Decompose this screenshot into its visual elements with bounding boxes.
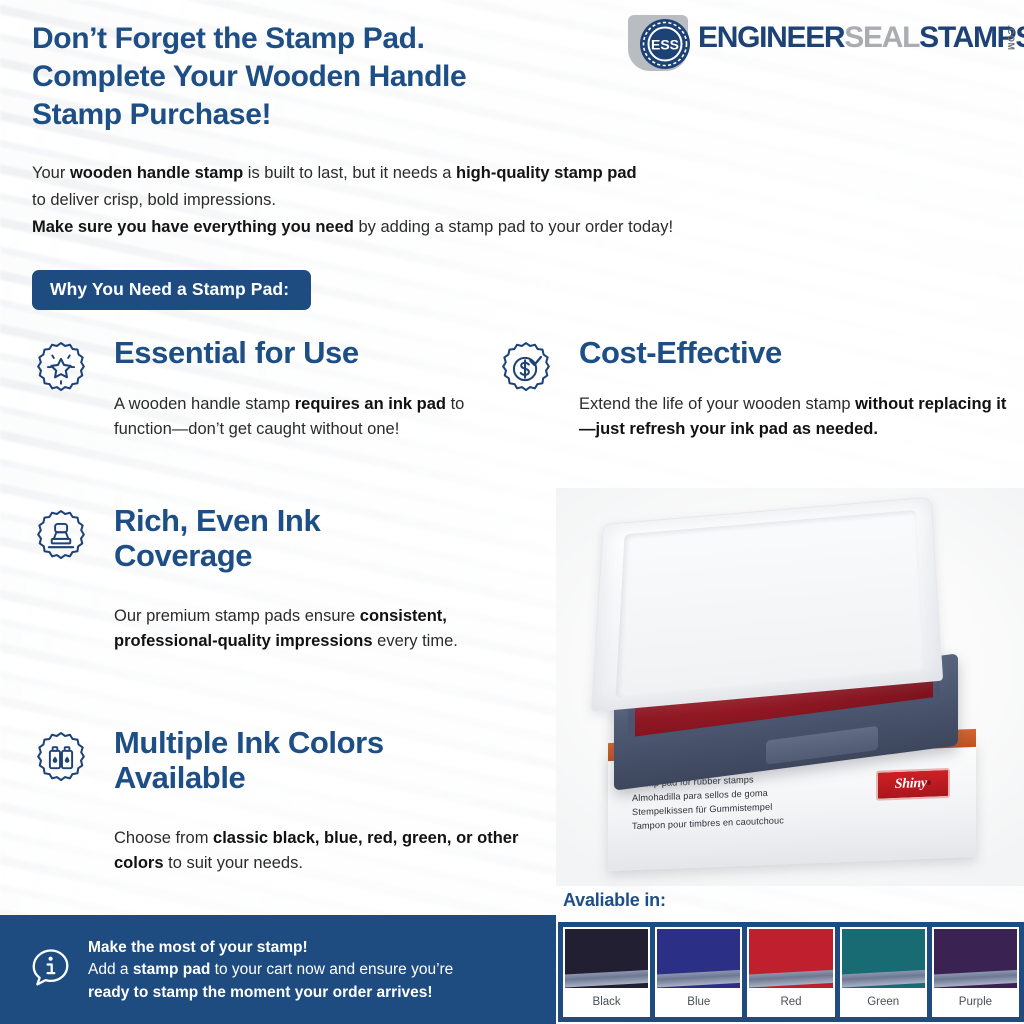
- feature-body-a: Extend the life of your wooden stamp: [579, 395, 855, 413]
- cta-line-1: Make the most of your stamp!: [88, 937, 548, 959]
- feature-title: Rich, Even Ink Coverage: [114, 504, 320, 573]
- cta-2b: stamp pad: [133, 961, 211, 978]
- badge-star-icon: [32, 340, 90, 398]
- cta-2c: to your cart now and ensure you’re: [210, 961, 453, 978]
- swatch-color-fill: [934, 929, 1017, 988]
- swatch-label: Green: [842, 988, 925, 1015]
- stamp-pad-lid-inner: [616, 510, 926, 698]
- swatch-label: Red: [749, 988, 832, 1015]
- feature-title-line-2: Coverage: [114, 539, 320, 574]
- badge-ink-bottles-icon: [32, 730, 90, 788]
- logo-dotcom: .COM: [1006, 25, 1016, 51]
- feature-body-a: Our premium stamp pads ensure: [114, 607, 360, 625]
- feature-body: Choose from classic black, blue, red, gr…: [114, 826, 564, 876]
- feature-title-line-1: Rich, Even Ink: [114, 504, 320, 539]
- intro-line-3: Make sure you have everything you need b…: [32, 214, 912, 241]
- swatch-color-fill: [842, 929, 925, 988]
- intro-1c: is built to last, but it needs a: [243, 164, 456, 182]
- logo-mark-text: ESS: [651, 37, 679, 53]
- infographic-page: Don’t Forget the Stamp Pad. Complete You…: [0, 0, 1024, 1024]
- product-photo: Stamp pad for rubber stamps Almohadilla …: [556, 488, 1024, 886]
- swatch-purple[interactable]: Purple: [932, 927, 1019, 1017]
- ess-gear-icon: ESS: [636, 15, 694, 73]
- logo-wordmark: ENGINEERSEALSTAMPS: [698, 21, 1024, 55]
- swatch-color-fill: [749, 929, 832, 988]
- color-swatch-strip: Black Blue Red Green Purple: [558, 922, 1024, 1022]
- swatch-label: Blue: [657, 988, 740, 1015]
- stamp-pad-lid: [591, 497, 943, 712]
- cta-line-3-text: ready to stamp the moment your order arr…: [88, 984, 433, 1001]
- swatch-green[interactable]: Green: [840, 927, 927, 1017]
- cta-line-3: ready to stamp the moment your order arr…: [88, 982, 548, 1004]
- feature-title: Multiple Ink Colors Available: [114, 726, 384, 795]
- brand-logo[interactable]: ESS ENGINEERSEALSTAMPS .COM: [628, 13, 1014, 75]
- feature-title-line-1: Essential for Use: [114, 336, 359, 371]
- swatch-color-fill: [565, 929, 648, 988]
- info-bubble-icon: [24, 944, 74, 994]
- feature-body: Extend the life of your wooden stamp wit…: [579, 392, 1019, 442]
- swatch-blue[interactable]: Blue: [655, 927, 742, 1017]
- intro-3a: Make sure you have everything you need: [32, 218, 354, 236]
- shiny-brand-name: Shiny: [895, 776, 927, 793]
- headline-line-1: Don’t Forget the Stamp Pad.: [32, 20, 652, 58]
- cta-line-2: Add a stamp pad to your cart now and ens…: [88, 959, 548, 981]
- available-in-title: Avaliable in:: [563, 890, 666, 911]
- cta-text: Make the most of your stamp! Add a stamp…: [88, 937, 548, 1004]
- shiny-registered-mark: ®: [927, 781, 931, 787]
- page-title: Don’t Forget the Stamp Pad. Complete You…: [32, 20, 652, 134]
- feature-body-b: requires an ink pad: [295, 395, 446, 413]
- headline-line-2: Complete Your Wooden Handle: [32, 58, 652, 96]
- feature-body: Our premium stamp pads ensure consistent…: [114, 604, 504, 654]
- swatch-red[interactable]: Red: [747, 927, 834, 1017]
- feature-title: Cost-Effective: [579, 336, 782, 371]
- cta-2a: Add a: [88, 961, 133, 978]
- headline-line-3: Stamp Purchase!: [32, 96, 652, 134]
- feature-body-a: A wooden handle stamp: [114, 395, 295, 413]
- intro-1d: high-quality stamp pad: [456, 164, 637, 182]
- intro-1b: wooden handle stamp: [70, 164, 243, 182]
- intro-line-1: Your wooden handle stamp is built to las…: [32, 160, 912, 187]
- shiny-brand-badge: Shiny®: [876, 768, 950, 801]
- intro-1a: Your: [32, 164, 70, 182]
- logo-word-seal: SEAL: [844, 21, 919, 54]
- why-banner: Why You Need a Stamp Pad:: [32, 270, 311, 310]
- cta-line-1-text: Make the most of your stamp!: [88, 939, 308, 956]
- feature-title-line-2: Available: [114, 761, 384, 796]
- feature-title: Essential for Use: [114, 336, 359, 371]
- feature-body-a: Choose from: [114, 829, 213, 847]
- swatch-label: Purple: [934, 988, 1017, 1015]
- badge-stamp-icon: [32, 508, 90, 566]
- intro-paragraph: Your wooden handle stamp is built to las…: [32, 160, 912, 242]
- feature-body-c: to suit your needs.: [164, 854, 303, 872]
- feature-title-line-1: Multiple Ink Colors: [114, 726, 384, 761]
- feature-title-line-1: Cost-Effective: [579, 336, 782, 371]
- header: Don’t Forget the Stamp Pad. Complete You…: [0, 0, 1024, 150]
- badge-dollar-check-icon: [497, 340, 555, 398]
- feature-body: A wooden handle stamp requires an ink pa…: [114, 392, 514, 442]
- intro-line-2: to deliver crisp, bold impressions.: [32, 187, 912, 214]
- logo-word-engineer: ENGINEER: [698, 21, 844, 54]
- swatch-black[interactable]: Black: [563, 927, 650, 1017]
- swatch-label: Black: [565, 988, 648, 1015]
- feature-body-c: every time.: [373, 632, 458, 650]
- intro-3b: by adding a stamp pad to your order toda…: [354, 218, 673, 236]
- swatch-color-fill: [657, 929, 740, 988]
